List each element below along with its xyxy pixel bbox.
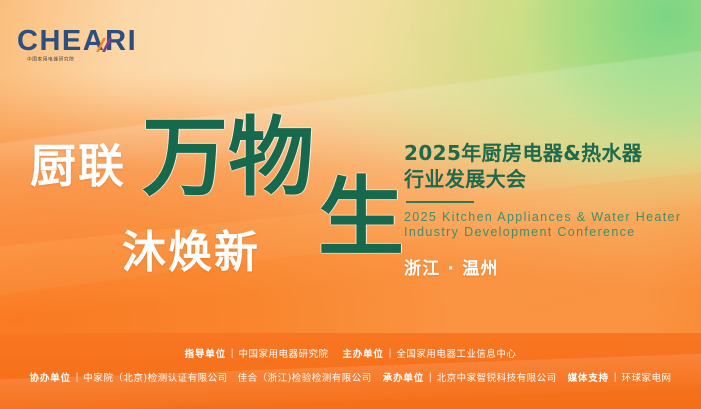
event-title-line-1: 2025年厨房电器&热水器 — [404, 140, 689, 166]
event-location: 浙江 · 温州 — [404, 254, 689, 279]
logo-wordmark: CHEARI — [17, 26, 157, 56]
main-headline: 厨联 万物 生 沐焕新 — [30, 112, 420, 307]
headline-part-chulian: 厨联 — [30, 142, 126, 190]
event-english-line-2: Industry Development Conference — [404, 225, 689, 240]
credit-label: 主办单位 — [343, 346, 384, 360]
headline-part-sheng: 生 — [318, 174, 404, 262]
event-english-line-1: 2025 Kitchen Appliances & Water Heater — [404, 210, 689, 225]
headline-part-muhuanxin: 沐焕新 — [122, 230, 260, 276]
logo-subtitle: 中国家用电器研究院 — [27, 56, 74, 63]
credit-group: 主办单位 | 全国家用电器工业信息中心 — [343, 346, 517, 360]
headline-part-wanwu: 万物 — [142, 114, 314, 202]
event-title-line-2: 行业发展大会 — [404, 166, 689, 192]
credit-value-secondary: 佳合（浙江)检验检测有限公司 — [238, 370, 372, 384]
credit-label: 承办单位 — [383, 370, 424, 384]
credit-group: 指导单位 | 中国家用电器研究院 — [185, 346, 329, 360]
credits-section: 指导单位 | 中国家用电器研究院 主办单位 | 全国家用电器工业信息中心 协办单… — [0, 333, 701, 409]
credit-group: 承办单位 | 北京中家智锐科技有限公司 — [383, 370, 557, 384]
credit-value: 北京中家智锐科技有限公司 — [437, 370, 557, 384]
credit-label: 媒体支持 — [568, 370, 609, 384]
credit-label: 指导单位 — [185, 346, 226, 360]
credit-separator: | — [389, 348, 392, 359]
credit-separator: | — [231, 348, 234, 359]
credit-value: 全国家用电器工业信息中心 — [396, 346, 516, 360]
credit-group: 媒体支持 | 环球家电网 — [568, 370, 672, 384]
credits-row-1: 指导单位 | 中国家用电器研究院 主办单位 | 全国家用电器工业信息中心 — [0, 346, 701, 360]
credit-separator: | — [429, 372, 432, 383]
credit-value: 中国家用电器研究院 — [238, 346, 328, 360]
cheari-logo: CHEARI 中国家用电器研究院 — [17, 26, 157, 66]
credit-label: 协办单位 — [30, 370, 71, 384]
credit-group: 协办单位 | 中家院（北京)检测认证有限公司 佳合（浙江)检验检测有限公司 — [30, 370, 372, 384]
conference-poster: CHEARI 中国家用电器研究院 厨联 万物 生 沐焕新 2025年厨房电器&热… — [0, 0, 701, 409]
credits-row-2: 协办单位 | 中家院（北京)检测认证有限公司 佳合（浙江)检验检测有限公司 承办… — [0, 370, 701, 384]
credit-separator: | — [76, 372, 79, 383]
credit-value: 环球家电网 — [621, 370, 671, 384]
event-info-block: 2025年厨房电器&热水器 行业发展大会 2025 Kitchen Applia… — [404, 140, 689, 279]
credit-separator: | — [614, 372, 617, 383]
event-title-divider — [406, 201, 474, 203]
credit-value: 中家院（北京)检测认证有限公司 — [83, 370, 227, 384]
